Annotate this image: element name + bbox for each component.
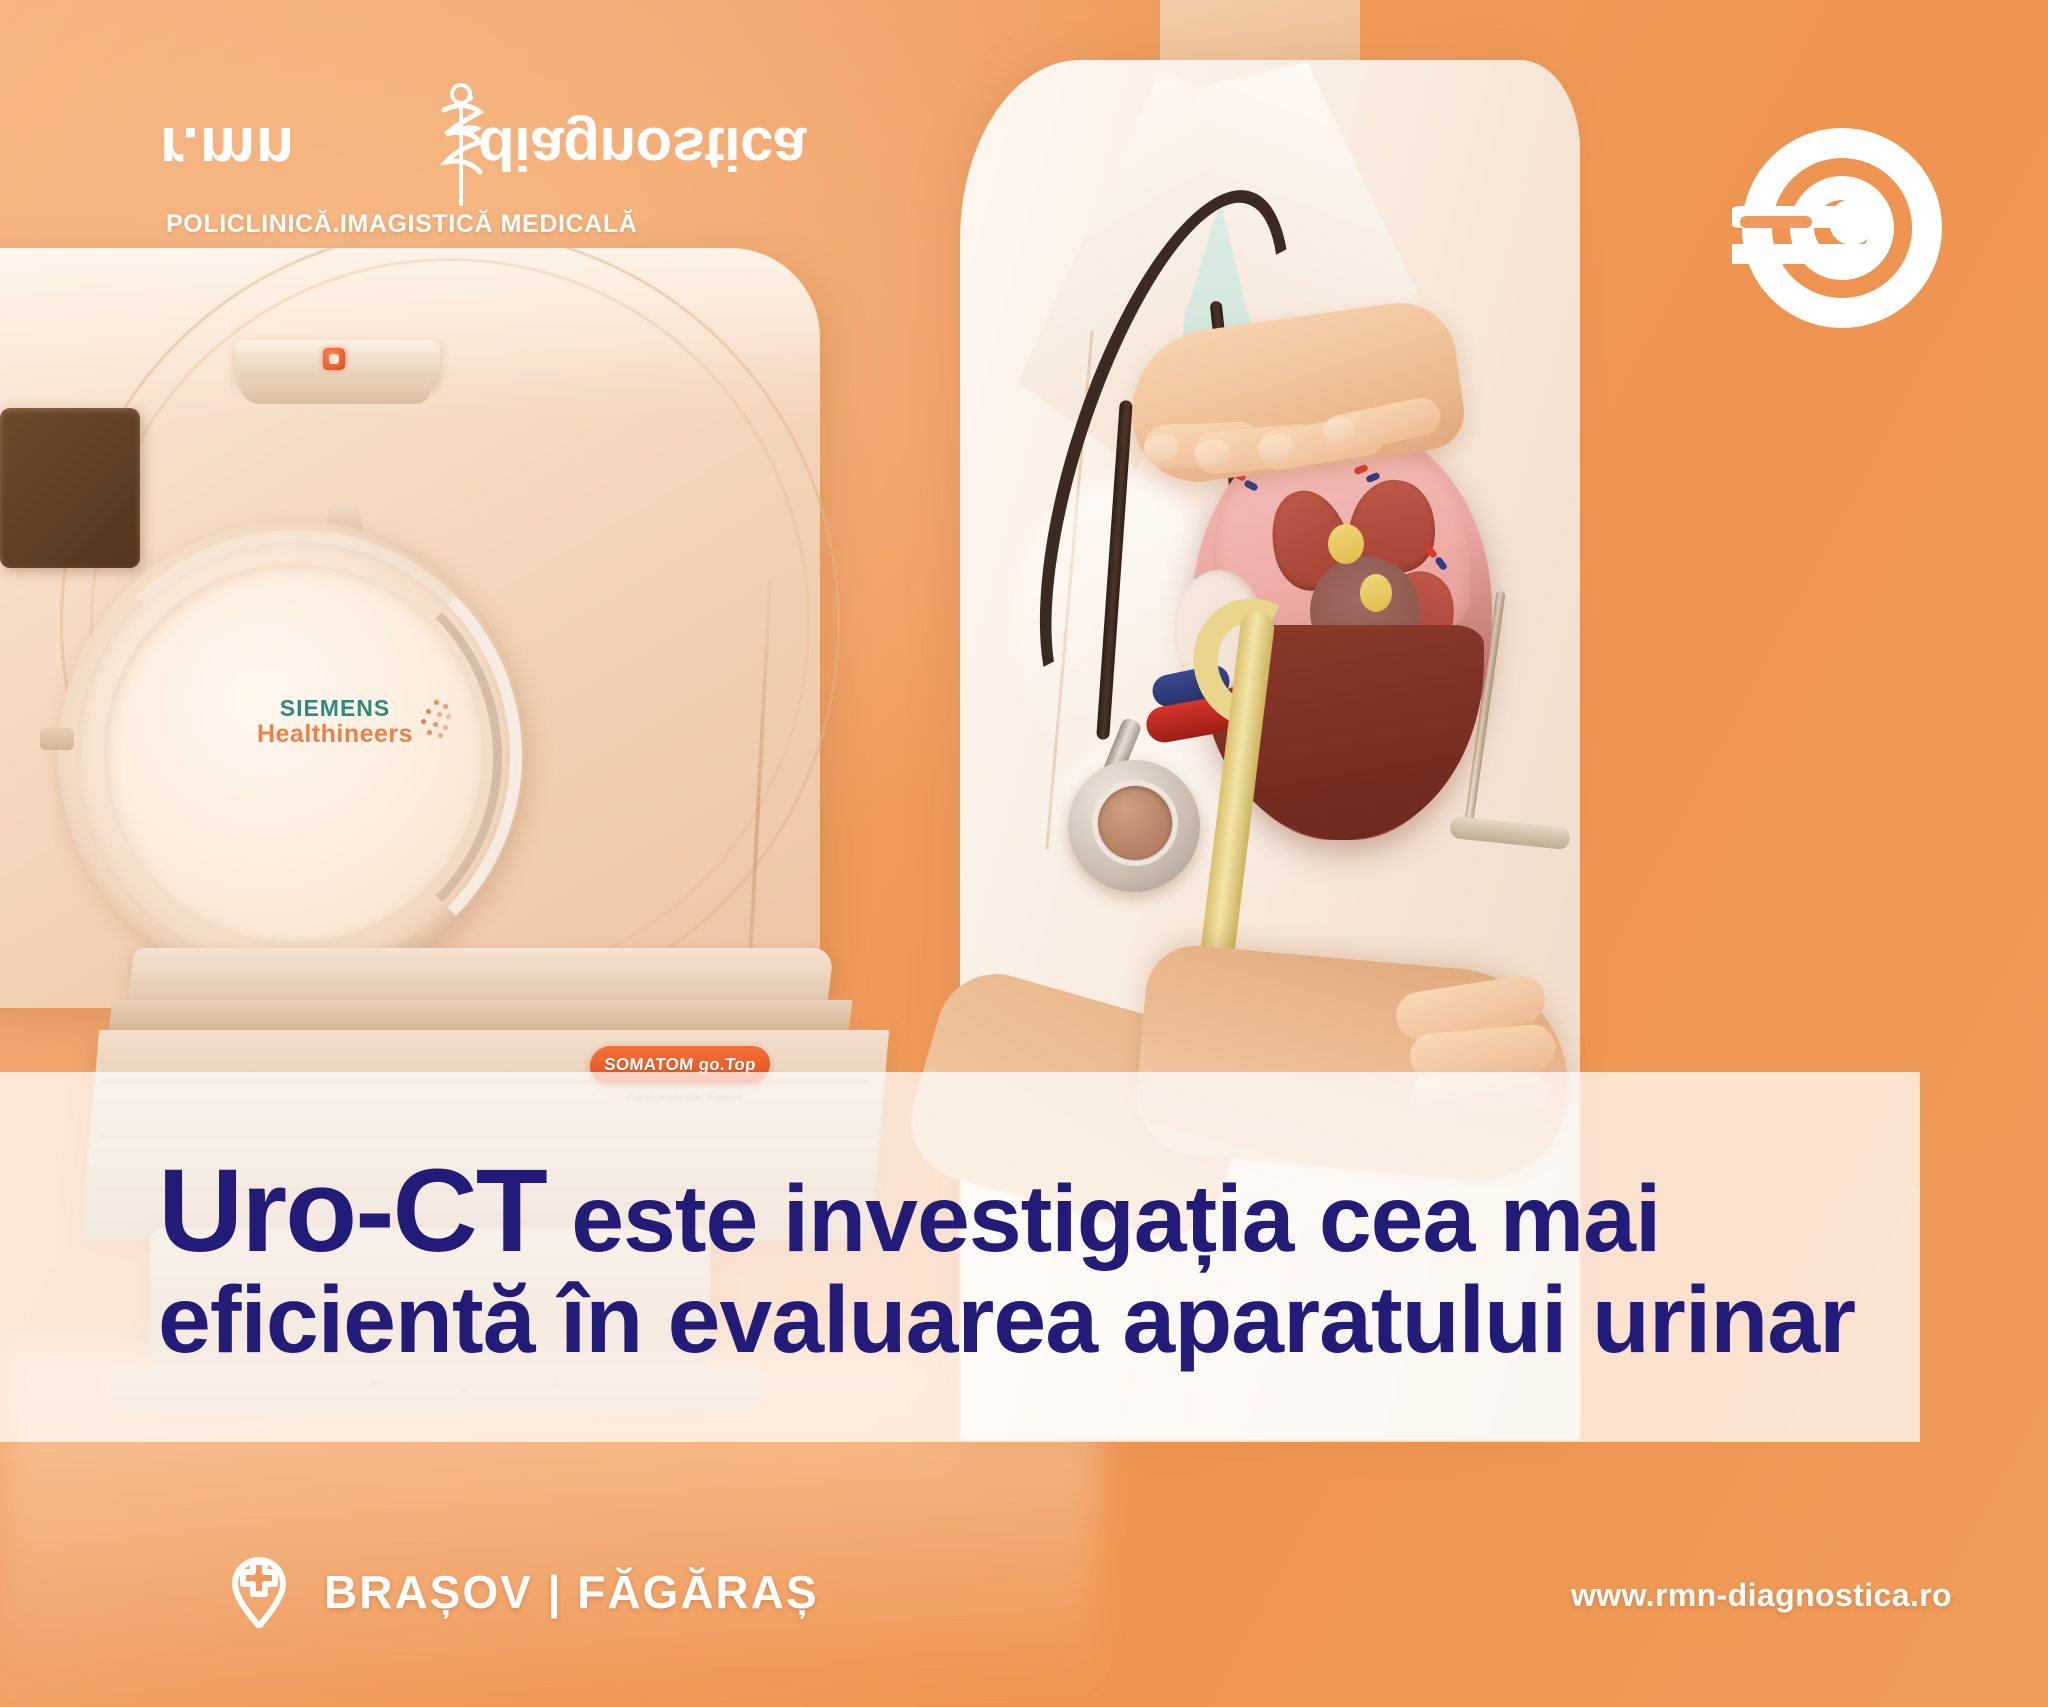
bore-side-notch <box>40 728 74 750</box>
stethoscope-diaphragm <box>1098 786 1172 860</box>
brand-wordmark-rmn: r.mn <box>160 118 295 177</box>
brand-wordmark-row: r.mn diagnostica <box>160 118 660 204</box>
anatomical-kidney-model <box>1192 420 1492 840</box>
scanner-control-lip <box>240 380 430 404</box>
location-pin-medical-icon <box>228 1556 290 1628</box>
renal-calyx <box>1328 524 1364 564</box>
brand-wordmark-diagnostica: diagnostica <box>478 120 806 177</box>
ct-scanner-icon <box>1732 118 1952 338</box>
siemens-wordmark: SIEMENS <box>240 696 430 721</box>
headline-emphasis: Uro-CT <box>158 1145 546 1277</box>
headline-text: Uro-CT este investigația cea mai eficien… <box>0 1072 1920 1442</box>
poster-root: SIEMENS Healthineers <box>0 0 2048 1707</box>
doctor-figure <box>840 0 1840 1707</box>
renal-calyx <box>1360 574 1392 612</box>
caduceus-icon <box>432 80 490 210</box>
power-indicator-icon <box>323 348 345 370</box>
footer-website-link[interactable]: www.rmn-diagnostica.ro <box>1571 1577 1952 1614</box>
healthineers-wordmark: Healthineers <box>240 721 430 749</box>
brand-logo[interactable]: r.mn diagnostica POLICLINICĂ.IMAGISTICĂ … <box>160 118 660 204</box>
siemens-healthineers-logo: SIEMENS Healthineers <box>240 696 430 749</box>
power-indicator-core <box>329 354 339 364</box>
healthineers-dots-icon <box>412 700 452 738</box>
scanner-side-panel <box>0 408 140 568</box>
bore-rim-shadow <box>92 552 502 962</box>
footer-locations-label: BRAȘOV | FĂGĂRAȘ <box>324 1565 819 1619</box>
stethoscope-chestpiece <box>1068 760 1200 892</box>
footer-locations: BRAȘOV | FĂGĂRAȘ <box>228 1556 819 1628</box>
brand-tagline: POLICLINICĂ.IMAGISTICĂ MEDICALĂ <box>166 210 637 239</box>
